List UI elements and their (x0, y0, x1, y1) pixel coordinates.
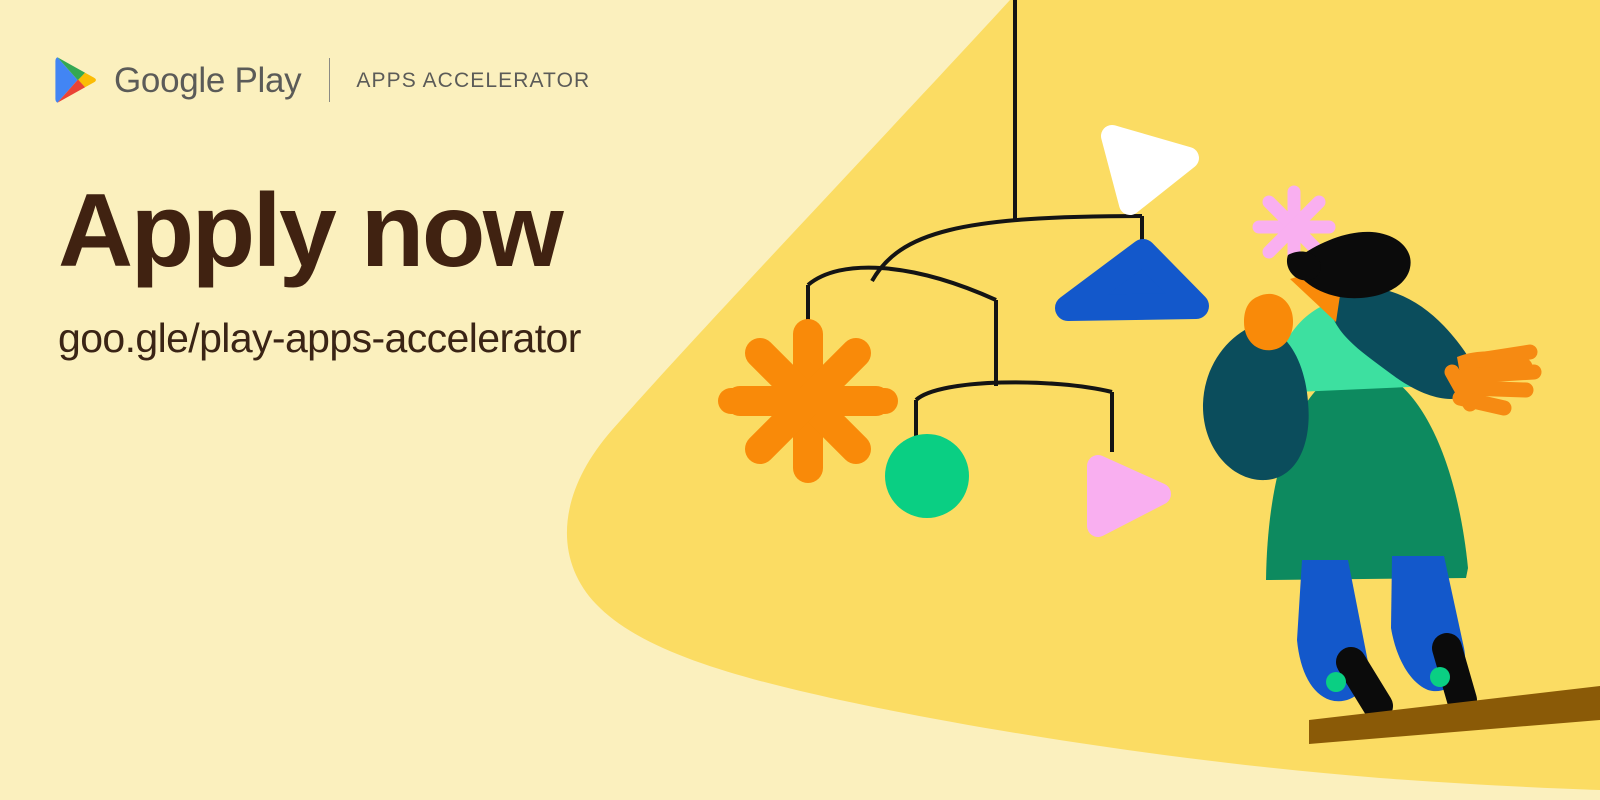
brand-lockup: Google Play APPS ACCELERATOR (55, 52, 590, 108)
banner-canvas: Google Play APPS ACCELERATOR Apply now g… (0, 0, 1600, 800)
google-play-triangle-icon (55, 56, 99, 104)
illustration-artwork (0, 0, 1600, 800)
google-play-wordmark: Google Play (114, 63, 301, 98)
lockup-divider (329, 58, 330, 102)
headline-apply-now: Apply now (58, 178, 561, 284)
program-name-label: APPS ACCELERATOR (356, 70, 590, 91)
mint-dot-right (1430, 667, 1450, 687)
mint-circle-shape (885, 434, 969, 518)
cta-url-text[interactable]: goo.gle/play-apps-accelerator (58, 316, 581, 361)
mint-dot-left (1326, 672, 1346, 692)
orange-neck-shape (1244, 294, 1293, 350)
